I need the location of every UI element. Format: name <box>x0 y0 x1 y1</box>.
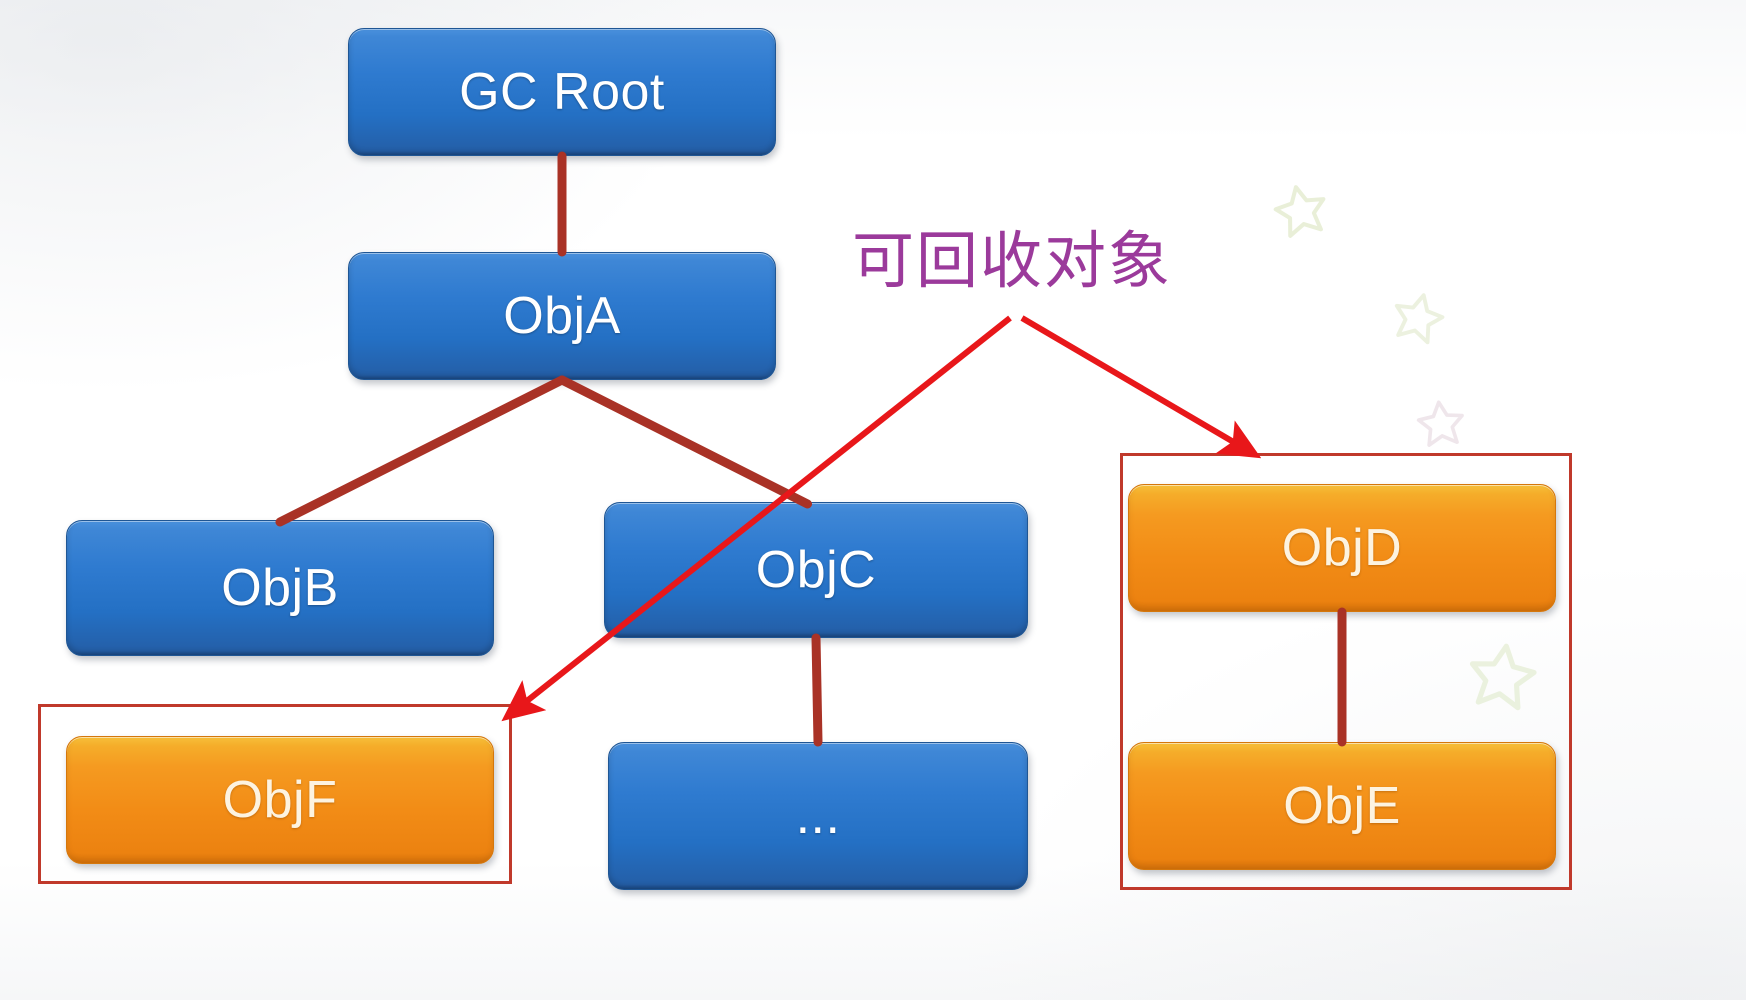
decorative-watermark-icon <box>1412 395 1469 452</box>
node-objD[interactable]: ObjD <box>1128 484 1556 612</box>
arrow-to-objDE <box>1022 318 1254 454</box>
decorative-watermark-icon <box>1384 284 1452 352</box>
decorative-watermark-icon <box>1267 177 1336 246</box>
node-label: ... <box>796 790 841 842</box>
annotation-label: 可回收对象 <box>852 230 1172 292</box>
reference-edge-e-objA-objB <box>280 380 562 522</box>
node-objA[interactable]: ObjA <box>348 252 776 380</box>
node-objE[interactable]: ObjE <box>1128 742 1556 870</box>
node-label: ObjA <box>503 290 621 342</box>
node-gcroot[interactable]: GC Root <box>348 28 776 156</box>
node-objF[interactable]: ObjF <box>66 736 494 864</box>
reference-edge-e-objC-dots <box>816 638 818 742</box>
node-label: GC Root <box>459 66 665 118</box>
node-objDots[interactable]: ... <box>608 742 1028 890</box>
node-label: ObjB <box>221 562 339 614</box>
node-label: ObjC <box>756 544 876 596</box>
node-objC[interactable]: ObjC <box>604 502 1028 638</box>
reference-edge-e-objA-objC <box>562 380 808 504</box>
diagram-canvas: GC RootObjAObjBObjC...ObjFObjDObjE 可回收对象 <box>0 0 1746 1000</box>
node-label: ObjF <box>223 774 338 826</box>
node-objB[interactable]: ObjB <box>66 520 494 656</box>
node-label: ObjE <box>1283 780 1401 832</box>
node-label: ObjD <box>1282 522 1402 574</box>
